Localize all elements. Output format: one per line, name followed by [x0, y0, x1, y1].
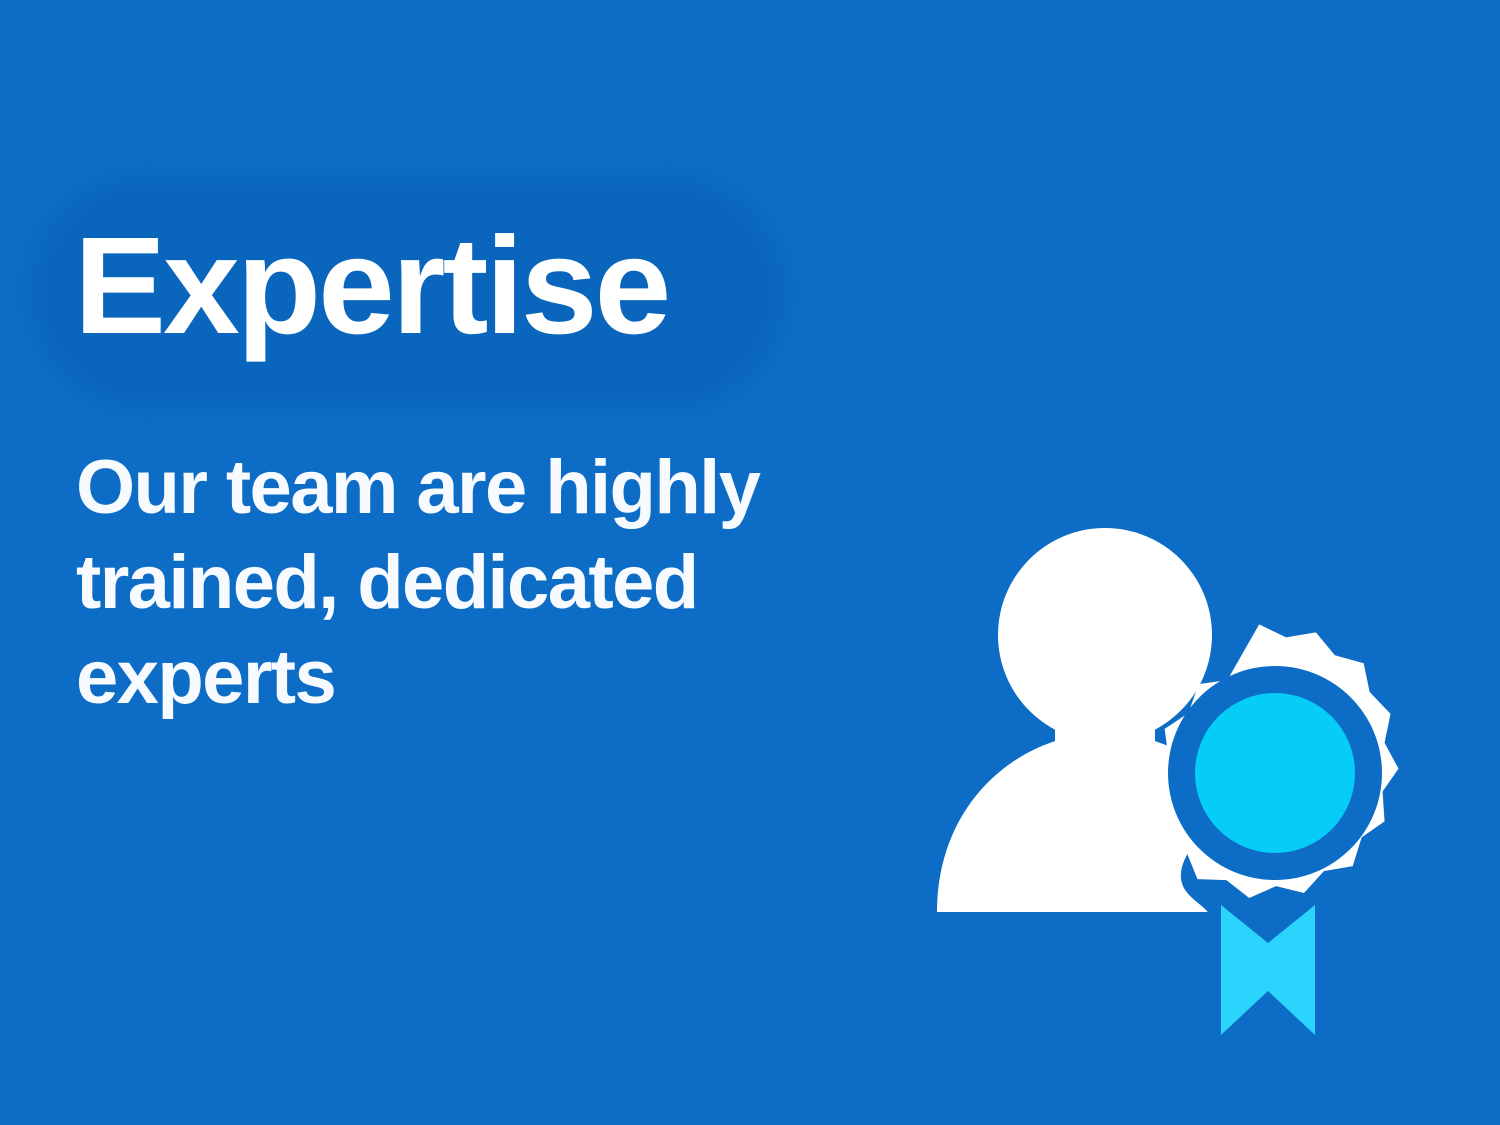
award-person-svg: [905, 505, 1425, 1035]
subheading-line-1: Our team are highly: [76, 440, 916, 535]
award-ribbon-icon: [1221, 905, 1315, 1035]
subheading-line-3: experts: [76, 630, 916, 725]
person-with-award-badge-icon: [905, 505, 1425, 1035]
subheading-text: Our team are highly trained, dedicated e…: [76, 440, 916, 725]
page-title: Expertise: [74, 216, 668, 357]
expertise-slide: Expertise Our team are highly trained, d…: [0, 0, 1500, 1125]
subheading-line-2: trained, dedicated: [76, 535, 916, 630]
